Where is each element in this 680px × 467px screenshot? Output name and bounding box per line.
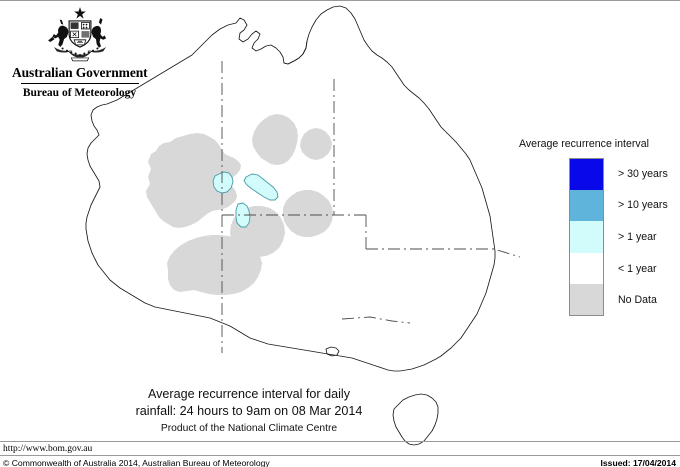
legend-swatch-no-data — [569, 284, 604, 316]
australian-coat-of-arms-icon — [43, 5, 117, 63]
recurrence-patch-central — [244, 174, 278, 200]
mainland-outline — [86, 6, 495, 371]
footer-divider-bottom — [0, 455, 680, 456]
state-borders — [222, 61, 520, 353]
legend-swatch-over-30-years — [569, 158, 604, 190]
caption-line-1: Average recurrence interval for daily — [104, 386, 394, 403]
legend-label-under-1-year: < 1 year — [618, 263, 657, 275]
legend-label-over-30-years: > 30 years — [618, 168, 668, 180]
gulf-carpentaria-coast — [284, 41, 307, 64]
legend-item-over-10-years: > 10 years — [569, 190, 675, 222]
legend-item-over-1-year: > 1 year — [569, 221, 675, 253]
caption-product-line: Product of the National Climate Centre — [104, 422, 394, 436]
caption-line-2: rainfall: 24 hours to 9am on 08 Mar 2014 — [104, 403, 394, 420]
legend-label-over-10-years: > 10 years — [618, 199, 668, 211]
no-data-region-qld-sw — [283, 190, 333, 237]
legend-items: > 30 years > 10 years > 1 year < 1 year … — [569, 158, 675, 316]
legend-label-no-data: No Data — [618, 294, 657, 306]
border-nsw-qld-east — [366, 249, 520, 257]
legend-swatch-over-1-year — [569, 221, 604, 253]
map-caption: Average recurrence interval for daily ra… — [104, 386, 394, 436]
legend-label-over-1-year: > 1 year — [618, 231, 657, 243]
footer-divider-top — [0, 441, 680, 442]
issued-date: Issued: 17/04/2014 — [601, 458, 677, 467]
legend-item-over-30-years: > 30 years — [569, 158, 675, 190]
legend-swatch-under-1-year — [569, 253, 604, 285]
legend-item-no-data: No Data — [569, 284, 675, 316]
bom-rainfall-recurrence-page: Australian Government Bureau of Meteorol… — [0, 0, 680, 467]
no-data-region-nt-north — [252, 114, 298, 165]
bom-website-url[interactable]: http://www.bom.gov.au — [3, 444, 92, 454]
australian-government-title: Australian Government — [12, 65, 147, 81]
branding-divider — [21, 83, 139, 84]
legend: Average recurrence interval > 30 years >… — [519, 138, 675, 316]
border-nsw-vic — [342, 317, 410, 323]
legend-item-under-1-year: < 1 year — [569, 253, 675, 285]
no-data-region-nt-east — [300, 128, 332, 160]
legend-swatch-over-10-years — [569, 190, 604, 222]
bom-branding: Australian Government Bureau of Meteorol… — [12, 5, 147, 99]
copyright-notice: © Commonwealth of Australia 2014, Austra… — [3, 458, 270, 467]
tasmania-outline — [393, 394, 438, 445]
legend-title: Average recurrence interval — [519, 138, 675, 150]
bureau-of-meteorology-title: Bureau of Meteorology — [12, 87, 147, 99]
